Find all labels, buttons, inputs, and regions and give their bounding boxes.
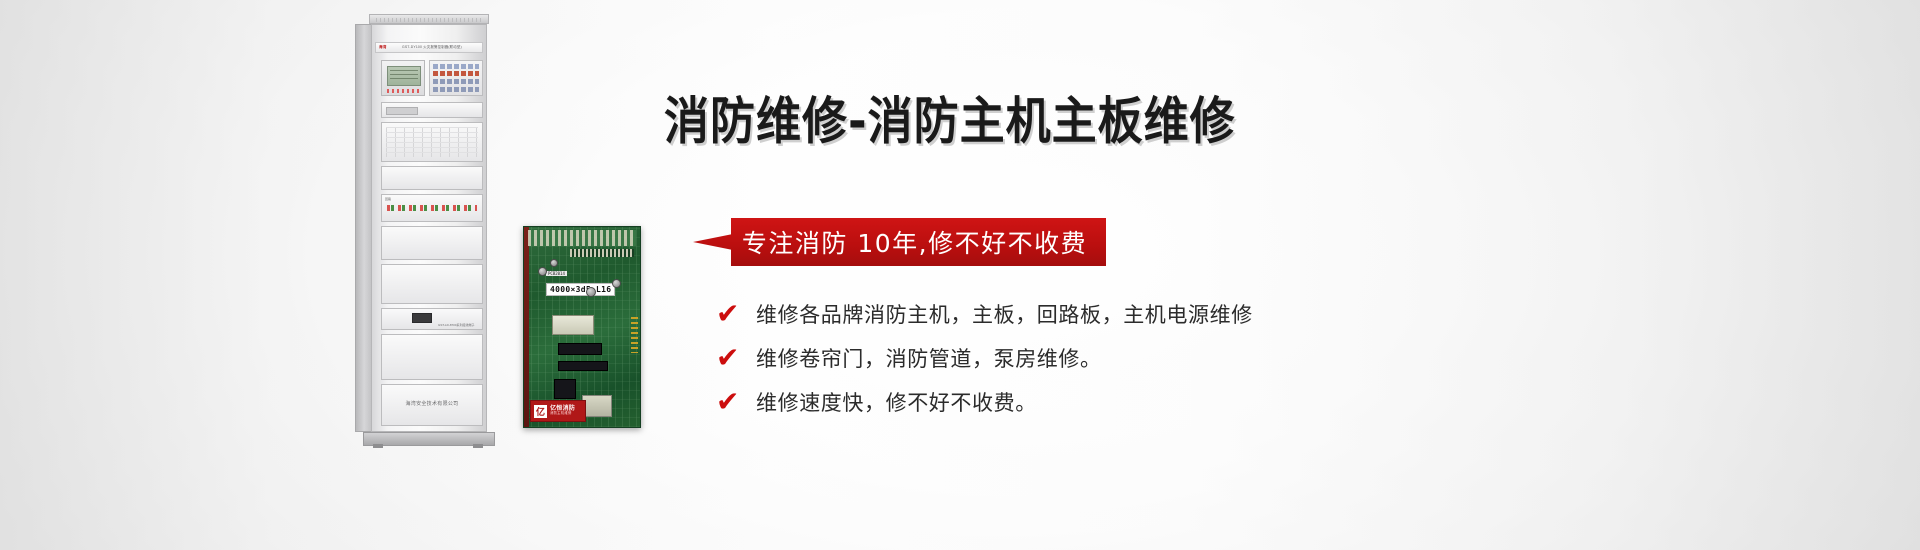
- pcb-top-header: [528, 230, 636, 246]
- pcb-watermark-badge: 亿 亿恒消防 消防主机维修: [530, 400, 586, 422]
- cabinet-brand-line: GST-DY100 火灾报警控制器(联动型): [402, 44, 462, 49]
- check-icon: ✔: [716, 388, 756, 416]
- pcb-red-edge: [524, 227, 529, 428]
- list-item: ✔ 维修速度快，修不好不收费。: [716, 380, 1456, 424]
- pcb-capacitor: [586, 287, 596, 297]
- cabinet-foot: [373, 444, 383, 448]
- pcb-ic-chip: [558, 343, 602, 355]
- page-title: 消防维修-消防主机主板维修: [664, 96, 1236, 146]
- cabinet-key-row: [433, 87, 479, 92]
- cabinet-key-row: [433, 71, 479, 76]
- pcb-board-sub-label: PCB2014: [546, 271, 567, 276]
- banner-copy: 消防维修-消防主机主板维修 专注消防 10年,修不好不收费 ✔ 维修各品牌消防主…: [664, 0, 1864, 550]
- list-item: ✔ 维修卷帘门，消防管道，泵房维修。: [716, 336, 1456, 380]
- pcb-board-label: 4000×3d5-L16: [546, 283, 615, 296]
- list-item-label: 维修卷帘门，消防管道，泵房维修。: [756, 343, 1102, 373]
- pcb-capacitor: [612, 279, 621, 288]
- cabinet-status-leds: [387, 89, 421, 93]
- cabinet-sub-label: GST-LD-8700系列接线端子: [438, 323, 475, 327]
- badge-mark-icon: 亿: [534, 405, 547, 418]
- cabinet-meter-panel: GST-LD-8700系列接线端子: [381, 308, 483, 330]
- check-icon: ✔: [716, 344, 756, 372]
- badge-subtitle: 消防主机维修: [550, 412, 575, 416]
- pcb-socket: [582, 395, 612, 417]
- tagline-text: 专注消防 10年,修不好不收费: [712, 224, 1087, 260]
- pcb-ic-light: [552, 315, 594, 335]
- cabinet-blank-panel: [381, 264, 483, 304]
- pcb-connector: [570, 249, 634, 257]
- cabinet-left-frame: [355, 24, 372, 432]
- list-item: ✔ 维修各品牌消防主机，主板，回路板，主机电源维修: [716, 292, 1456, 336]
- tagline-ribbon: 专注消防 10年,修不好不收费: [693, 218, 1106, 266]
- cabinet-loop-indicator-panel: 回路: [381, 194, 483, 222]
- cabinet-blank-panel: [381, 226, 483, 260]
- cabinet-blank-panel: [381, 166, 483, 190]
- cabinet-module-slot: [381, 102, 483, 118]
- cabinet-foot: [473, 444, 483, 448]
- cabinet-blank-panel: [381, 334, 483, 380]
- cabinet-lcd-screen: [387, 66, 421, 86]
- list-item-label: 维修速度快，修不好不收费。: [756, 387, 1037, 417]
- cabinet-keypad-panel: [429, 60, 483, 96]
- pcb-capacitor: [538, 267, 547, 276]
- cabinet-company-name: 海湾安全技术有限公司: [381, 400, 483, 407]
- mainboard-pcb-image: PCB2014 4000×3d5-L16: [523, 226, 641, 428]
- list-item-label: 维修各品牌消防主机，主板，回路板，主机电源维修: [756, 299, 1253, 329]
- fire-alarm-cabinet-image: 海湾 GST-DY100 火灾报警控制器(联动型) 回路 GST-LD-8700…: [355, 14, 503, 446]
- cabinet-display-panel: [381, 60, 425, 96]
- cabinet-key-row: [433, 64, 479, 69]
- check-icon: ✔: [716, 300, 756, 328]
- promo-banner: 海湾 GST-DY100 火灾报警控制器(联动型) 回路 GST-LD-8700…: [0, 0, 1920, 550]
- feature-list: ✔ 维修各品牌消防主机，主板，回路板，主机电源维修 ✔ 维修卷帘门，消防管道，泵…: [716, 292, 1456, 424]
- cabinet-brand-bar: 海湾 GST-DY100 火灾报警控制器(联动型): [375, 42, 483, 53]
- pcb-ic-chip: [558, 361, 608, 371]
- cabinet-key-row: [433, 79, 479, 84]
- pcb-capacitor: [550, 259, 558, 267]
- cabinet-brand-logo: 海湾: [379, 45, 387, 50]
- cabinet-loop-label: 回路: [385, 197, 391, 201]
- pcb-gold-fingers: [631, 317, 638, 353]
- cabinet-terminal-block: [381, 122, 483, 162]
- cabinet-top-vent: [369, 14, 489, 24]
- pcb-ic-chip: [554, 379, 576, 399]
